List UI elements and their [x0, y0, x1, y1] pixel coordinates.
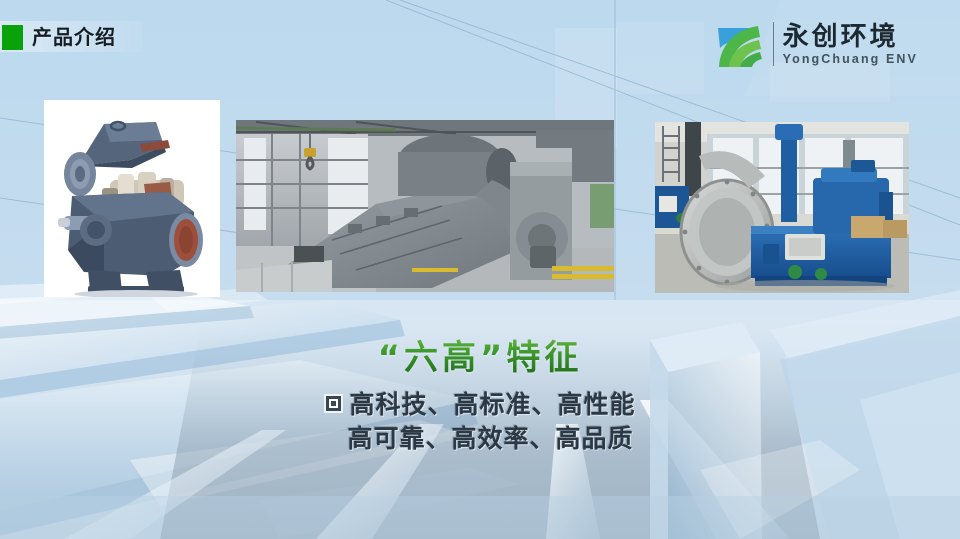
- logo-name-en: YongChuang ENV: [783, 52, 918, 66]
- slogan-title: “六高”特征: [0, 330, 960, 379]
- logo-text-block: 永创环境 YongChuang ENV: [783, 23, 918, 66]
- slogan-line-1: 高科技、高标准、高性能: [349, 388, 635, 422]
- slogan-bullet-block: 高科技、高标准、高性能 高可靠、高效率、高品质: [0, 388, 960, 456]
- square-bullet-icon: [324, 394, 343, 413]
- logo-divider: [773, 22, 774, 66]
- green-square-icon: [2, 25, 23, 50]
- blue-pump-unit-photo: [655, 122, 909, 293]
- page-title: 产品介绍: [32, 25, 116, 50]
- logo-name-cn: 永创环境: [783, 23, 918, 51]
- factory-machine-photo: [236, 120, 614, 292]
- slide-canvas: 产品介绍 永创环境 YongChuang ENV: [0, 0, 960, 539]
- company-logo: 永创环境 YongChuang ENV: [712, 18, 918, 70]
- slogan-lines: 高科技、高标准、高性能 高可靠、高效率、高品质: [349, 388, 635, 456]
- green-leaf-swoosh-logo-icon: [712, 18, 764, 70]
- slogan-line-2: 高可靠、高效率、高品质: [345, 422, 635, 456]
- split-case-pump-photo: [44, 100, 220, 297]
